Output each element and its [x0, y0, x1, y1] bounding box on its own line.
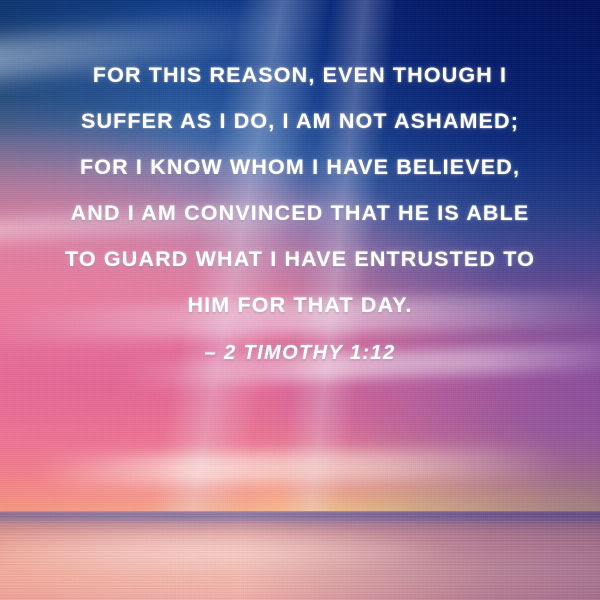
verse-line-5: TO GUARD WHAT I HAVE ENTRUSTED TO [0, 236, 600, 282]
verse-line-1: FOR THIS REASON, EVEN THOUGH I [0, 52, 600, 98]
verse-line-3: FOR I KNOW WHOM I HAVE BELIEVED, [0, 144, 600, 190]
verse-line-2: SUFFER AS I DO, I AM NOT ASHAMED; [0, 98, 600, 144]
verse-image-canvas: FOR THIS REASON, EVEN THOUGH I SUFFER AS… [0, 0, 600, 600]
verse-line-6: HIM FOR THAT DAY. [0, 282, 600, 328]
cloud-streak-near-horizon [40, 447, 560, 486]
verse-text-block: FOR THIS REASON, EVEN THOUGH I SUFFER AS… [0, 52, 600, 328]
ocean-light-reflection [0, 528, 600, 574]
verse-line-4: AND I AM CONVINCED THAT HE IS ABLE [0, 190, 600, 236]
verse-attribution: – 2 TIMOTHY 1:12 [0, 342, 600, 365]
verse-reference-label: – 2 TIMOTHY 1:12 [205, 342, 396, 364]
